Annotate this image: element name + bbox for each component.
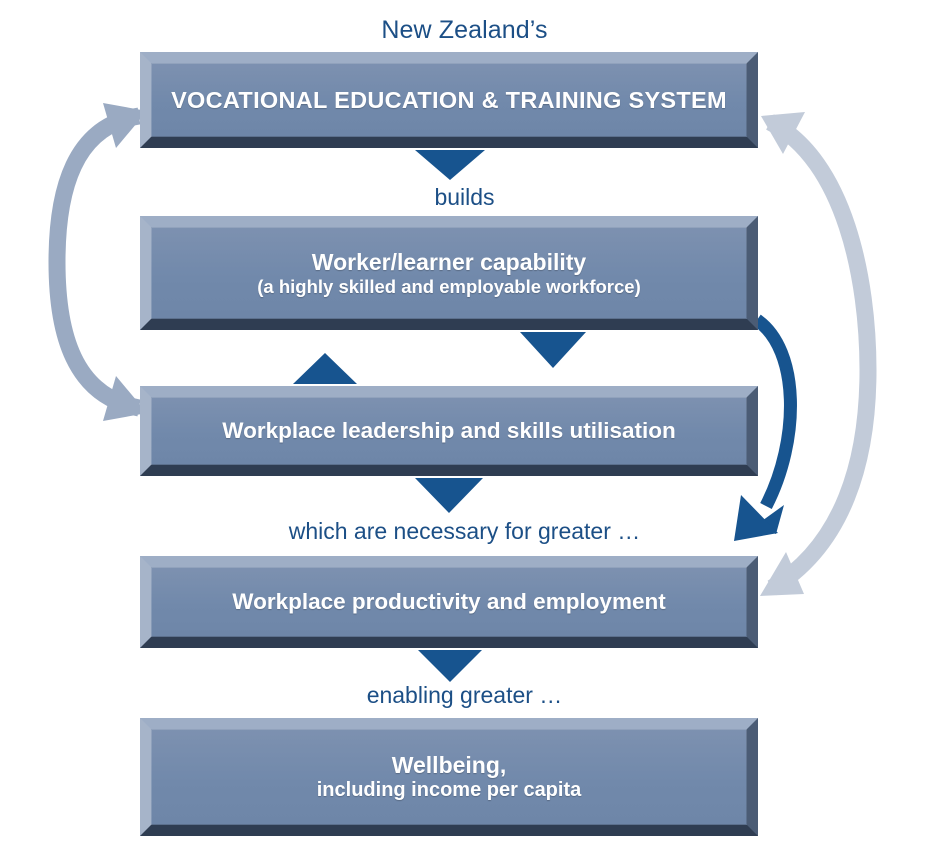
box-workplace-productivity-employment[interactable]: Workplace productivity and employment [140,556,758,648]
diagram-canvas: New Zealand’s VOCATIONAL EDUCATION & TRA… [0,0,929,865]
box-worker-learner-capability[interactable]: Worker/learner capability (a highly skil… [140,216,758,330]
box-vocational-education-training-system[interactable]: VOCATIONAL EDUCATION & TRAINING SYSTEM [140,52,758,148]
productivity-to-wellbeing-arrow [418,650,482,682]
box-leadership-line1: Workplace leadership and skills utilisat… [222,419,675,443]
caption-builds: builds [0,184,929,211]
vet-to-capability-arrow [415,150,485,180]
box-capability-line1: Worker/learner capability [312,250,586,274]
capability-to-leadership-arrow [520,332,586,368]
left-feedback-loop-arrow [57,103,147,421]
box-workplace-leadership-skills-utilisation[interactable]: Workplace leadership and skills utilisat… [140,386,758,476]
box-wellbeing[interactable]: Wellbeing, including income per capita [140,718,758,836]
box-vet-line1: VOCATIONAL EDUCATION & TRAINING SYSTEM [171,88,727,113]
box-wellbeing-line2: including income per capita [317,780,582,801]
leadership-to-capability-arrow [293,353,357,384]
box-wellbeing-line1: Wellbeing, [392,753,507,777]
leadership-to-productivity-arrow [415,478,483,513]
box-capability-line2: (a highly skilled and employable workfor… [257,277,640,297]
page-title: New Zealand’s [0,16,929,45]
box-productivity-line1: Workplace productivity and employment [232,590,665,614]
caption-which-are-necessary-for-greater: which are necessary for greater … [0,518,929,545]
caption-enabling-greater: enabling greater … [0,682,929,709]
